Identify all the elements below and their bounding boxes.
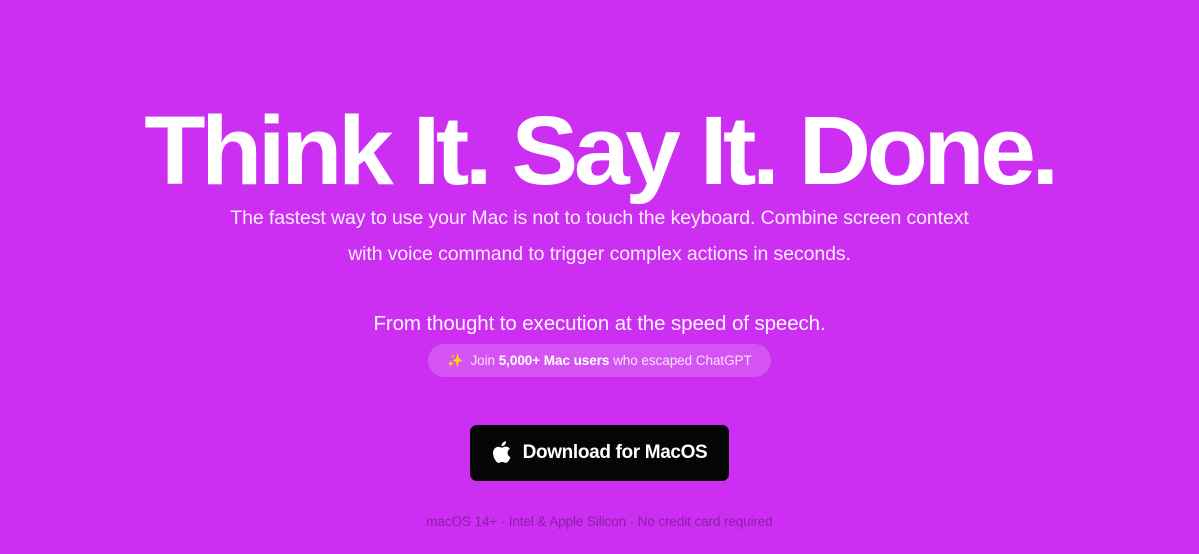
badge-prefix: Join	[470, 353, 498, 368]
badge-suffix: who escaped ChatGPT	[609, 353, 751, 368]
sparkles-icon: ✨	[447, 354, 463, 367]
page-title: Think It. Say It. Done.	[0, 102, 1199, 199]
social-proof-row: ✨ Join 5,000+ Mac users who escaped Chat…	[0, 344, 1199, 377]
hero-tagline: From thought to execution at the speed o…	[150, 310, 1050, 338]
hero-subtitle: The fastest way to use your Mac is not t…	[220, 200, 980, 272]
hero-section: Think It. Say It. Done. The fastest way …	[0, 0, 1199, 554]
download-for-macos-button[interactable]: Download for MacOS	[470, 425, 729, 481]
apple-logo-icon	[492, 441, 511, 464]
social-proof-label: Join 5,000+ Mac users who escaped ChatGP…	[470, 354, 751, 368]
cta-row: Download for MacOS	[0, 425, 1199, 481]
download-button-label: Download for MacOS	[523, 442, 708, 464]
social-proof-badge[interactable]: ✨ Join 5,000+ Mac users who escaped Chat…	[428, 344, 770, 377]
requirements-fineprint: macOS 14+ · Intel & Apple Silicon · No c…	[0, 513, 1199, 531]
badge-highlight: 5,000+ Mac users	[499, 353, 610, 368]
